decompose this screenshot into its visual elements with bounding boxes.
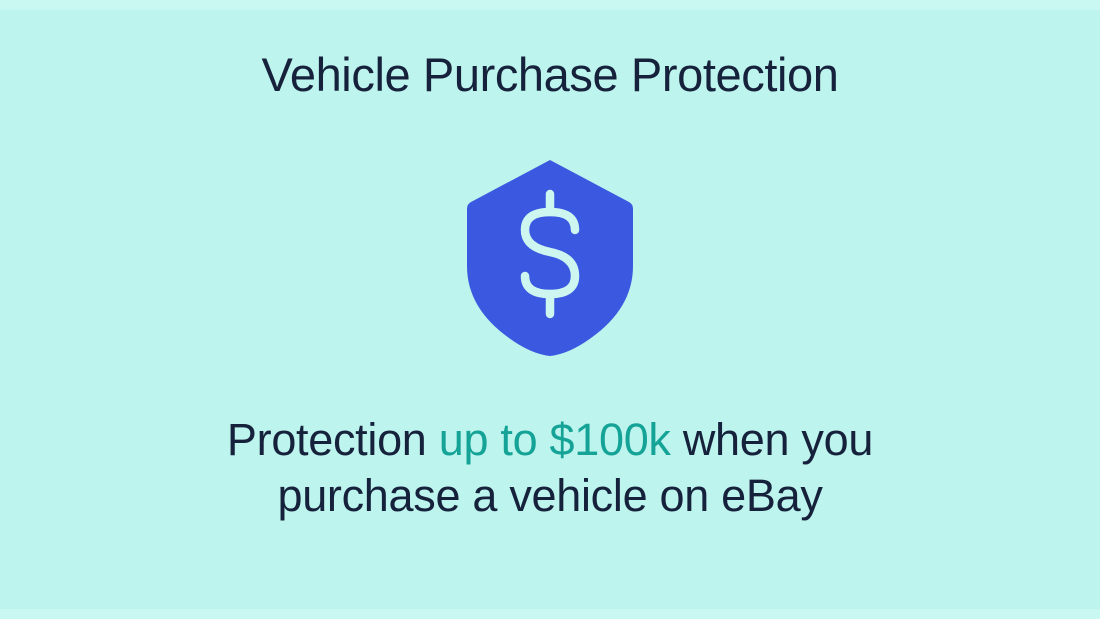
shield-badge: [461, 158, 639, 358]
promo-slide: Vehicle Purchase Protection Protection u…: [0, 0, 1100, 619]
bottom-edge-band: [0, 609, 1100, 619]
shield-dollar-icon: [461, 158, 639, 358]
page-title: Vehicle Purchase Protection: [0, 46, 1100, 104]
tagline-line-1: Protection up to $100k when you: [0, 412, 1100, 468]
top-edge-band: [0, 0, 1100, 10]
tagline-accent: up to $100k: [439, 414, 671, 465]
tagline: Protection up to $100k when you purchase…: [0, 412, 1100, 524]
tagline-prefix: Protection: [227, 414, 439, 465]
tagline-line-2: purchase a vehicle on eBay: [0, 468, 1100, 524]
shield-shape: [467, 160, 633, 356]
tagline-suffix: when you: [671, 414, 873, 465]
